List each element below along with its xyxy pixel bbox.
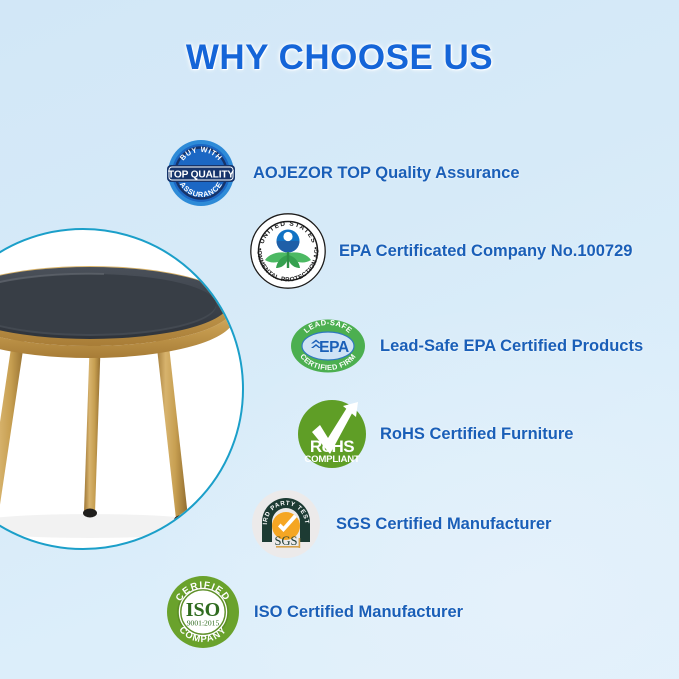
feature-row-iso: CERIFIED COMPANY ISO 9001:2015 ISO Certi… (166, 575, 463, 649)
feature-label-lead-safe: Lead-Safe EPA Certified Products (380, 337, 643, 356)
sgs-certified-seal-icon: THIRD PARTY TESTED SGS (250, 488, 322, 560)
feature-label-sgs: SGS Certified Manufacturer (336, 515, 551, 534)
svg-text:COMPLIANT: COMPLIANT (304, 454, 360, 465)
feature-row-lead-safe: LEAD-SAFE CERTIFIED FIRM EPA Lead-Safe E… (290, 318, 643, 374)
page-title: WHY CHOOSE US (0, 38, 679, 78)
svg-text:TOP QUALITY: TOP QUALITY (168, 169, 234, 180)
table-top (0, 266, 234, 358)
top-quality-assurance-seal-icon: BUY WITH ASSURANCE TOP QUALITY (163, 138, 239, 208)
lead-safe-epa-seal-icon: LEAD-SAFE CERTIFIED FIRM EPA (290, 318, 366, 374)
why-choose-us-infographic: WHY CHOOSE US (0, 0, 679, 679)
product-image-circle (0, 228, 244, 550)
epa-seal-icon: • UNITED STATES • ENVIRONMENTAL PROTECTI… (245, 210, 331, 292)
feature-row-rohs: RoHS COMPLIANT RoHS Certified Furniture (296, 398, 573, 470)
side-table-illustration (0, 230, 244, 550)
rohs-compliant-seal-icon: RoHS COMPLIANT (296, 398, 368, 470)
feature-label-epa-company: EPA Certificated Company No.100729 (339, 242, 632, 261)
feature-label-iso: ISO Certified Manufacturer (254, 603, 463, 622)
svg-text:9001:2015: 9001:2015 (187, 619, 220, 628)
feature-label-quality-assurance: AOJEZOR TOP Quality Assurance (253, 164, 520, 183)
svg-text:EPA: EPA (319, 339, 349, 356)
feature-row-epa-company: • UNITED STATES • ENVIRONMENTAL PROTECTI… (245, 210, 632, 292)
feature-label-rohs: RoHS Certified Furniture (380, 425, 573, 444)
iso-certified-seal-icon: CERIFIED COMPANY ISO 9001:2015 (166, 575, 240, 649)
svg-text:SGS: SGS (275, 534, 298, 548)
feature-row-sgs: THIRD PARTY TESTED SGS SGS Certified Man… (250, 488, 551, 560)
feature-row-quality-assurance: BUY WITH ASSURANCE TOP QUALITY AOJEZOR T… (163, 138, 520, 208)
